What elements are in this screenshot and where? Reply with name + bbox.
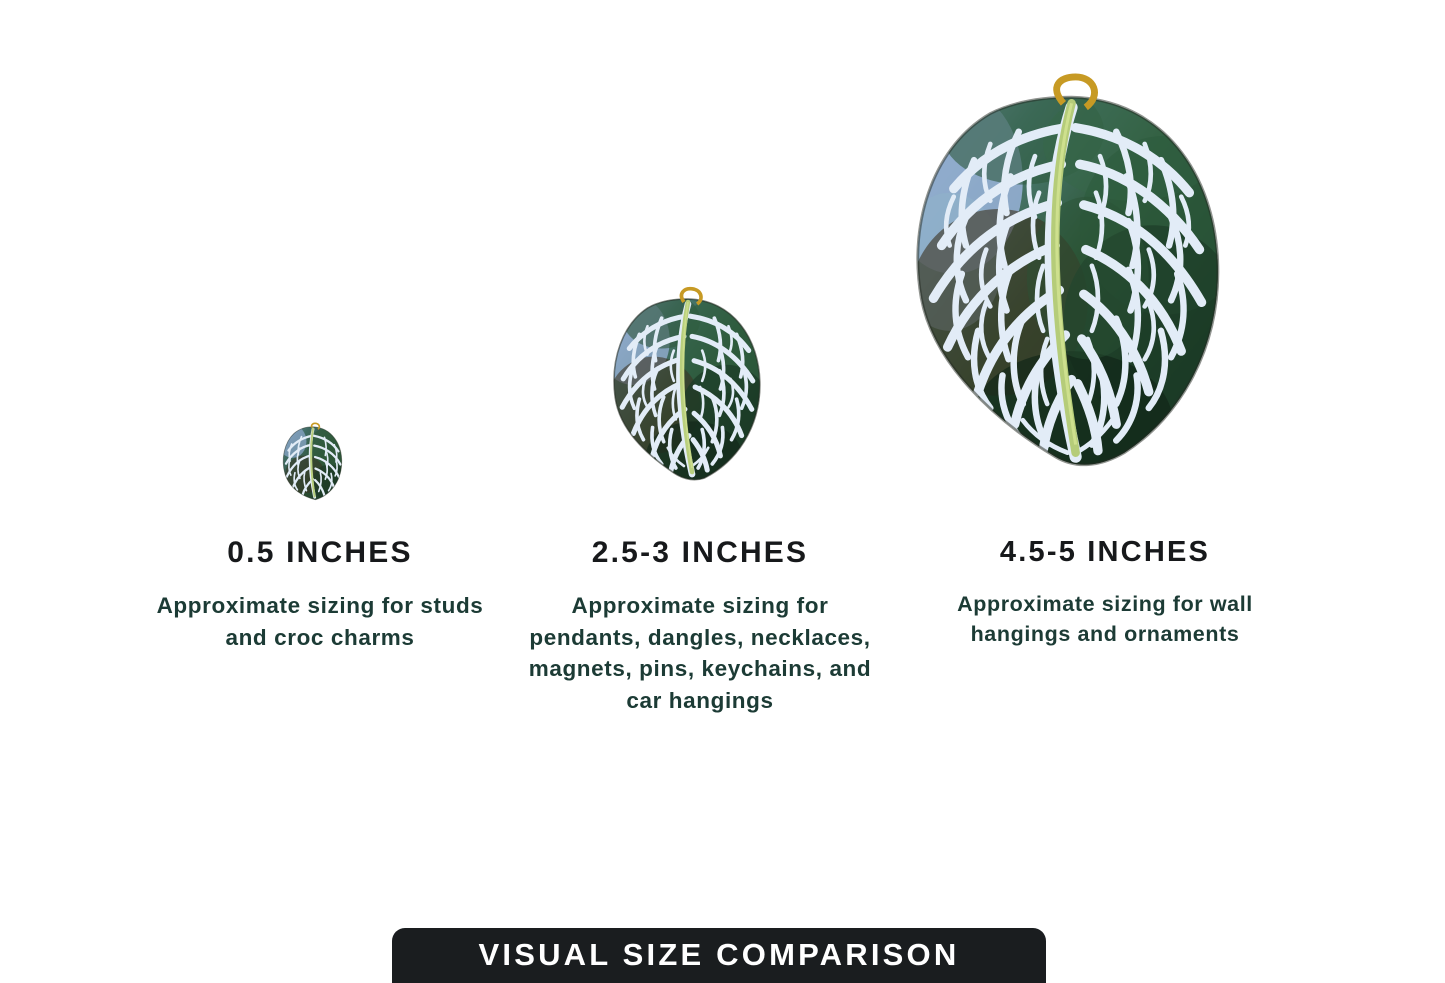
size-column-medium: 2.5-3 INCHES Approximate sizing for pend… [520, 538, 880, 716]
size-description-small: Approximate sizing for studs and croc ch… [140, 590, 500, 653]
leaf-medium-illustration [607, 281, 769, 493]
banner-label: VISUAL SIZE COMPARISON [479, 939, 960, 972]
size-heading-medium: 2.5-3 INCHES [520, 538, 880, 568]
visual-size-comparison-banner: VISUAL SIZE COMPARISON [392, 928, 1046, 983]
leaf-small-illustration [280, 421, 346, 503]
size-column-small: 0.5 INCHES Approximate sizing for studs … [140, 538, 500, 653]
size-description-medium: Approximate sizing for pendants, dangles… [520, 590, 880, 716]
leaf-large-illustration [905, 62, 1230, 494]
size-heading-large: 4.5-5 INCHES [925, 538, 1285, 567]
size-column-large: 4.5-5 INCHES Approximate sizing for wall… [925, 538, 1285, 649]
leaf-pendant-small [280, 421, 346, 503]
size-description-large: Approximate sizing for wall hangings and… [925, 589, 1285, 649]
size-heading-small: 0.5 INCHES [140, 538, 500, 568]
leaf-pendant-large [905, 62, 1230, 494]
leaf-pendant-medium [607, 281, 769, 493]
size-comparison-canvas: 0.5 INCHES Approximate sizing for studs … [0, 0, 1445, 983]
